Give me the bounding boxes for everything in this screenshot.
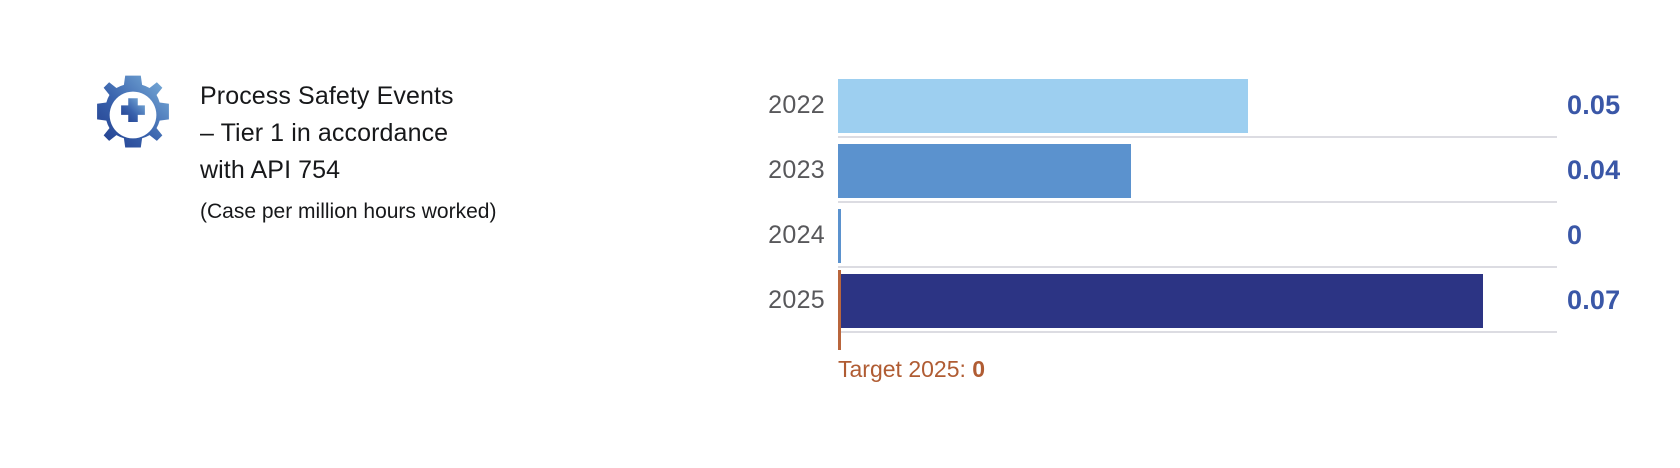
- bar-track-2023: [838, 136, 1557, 205]
- chart-row-2022: 2022 0.05: [0, 71, 1680, 140]
- bar-2025: [838, 274, 1483, 328]
- value-label-2022: 0.05: [1567, 71, 1677, 140]
- value-label-2024: 0: [1567, 201, 1677, 270]
- bar-chart: 2022 0.05 2023 0.04 2024 0 2025: [0, 0, 1680, 468]
- chart-row-2023: 2023 0.04: [0, 136, 1680, 205]
- bar-track-2024: [838, 201, 1557, 270]
- bar-2022: [838, 79, 1248, 133]
- kpi-chart-panel: Process Safety Events – Tier 1 in accord…: [0, 0, 1680, 468]
- year-label-2025: 2025: [700, 266, 825, 335]
- value-label-2023: 0.04: [1567, 136, 1677, 205]
- bar-2024: [838, 209, 841, 263]
- year-label-2023: 2023: [700, 136, 825, 205]
- chart-row-2024: 2024 0: [0, 201, 1680, 270]
- target-label-prefix: Target 2025:: [838, 356, 972, 382]
- value-label-2025: 0.07: [1567, 266, 1677, 335]
- bar-track-2022: [838, 71, 1557, 140]
- bar-track-2025: [838, 266, 1557, 335]
- gridline-2025: [838, 331, 1557, 333]
- year-label-2024: 2024: [700, 201, 825, 270]
- target-label: Target 2025: 0: [838, 356, 985, 383]
- target-line-marker: [838, 270, 841, 350]
- year-label-2022: 2022: [700, 71, 825, 140]
- target-label-value: 0: [972, 356, 985, 382]
- bar-2023: [838, 144, 1131, 198]
